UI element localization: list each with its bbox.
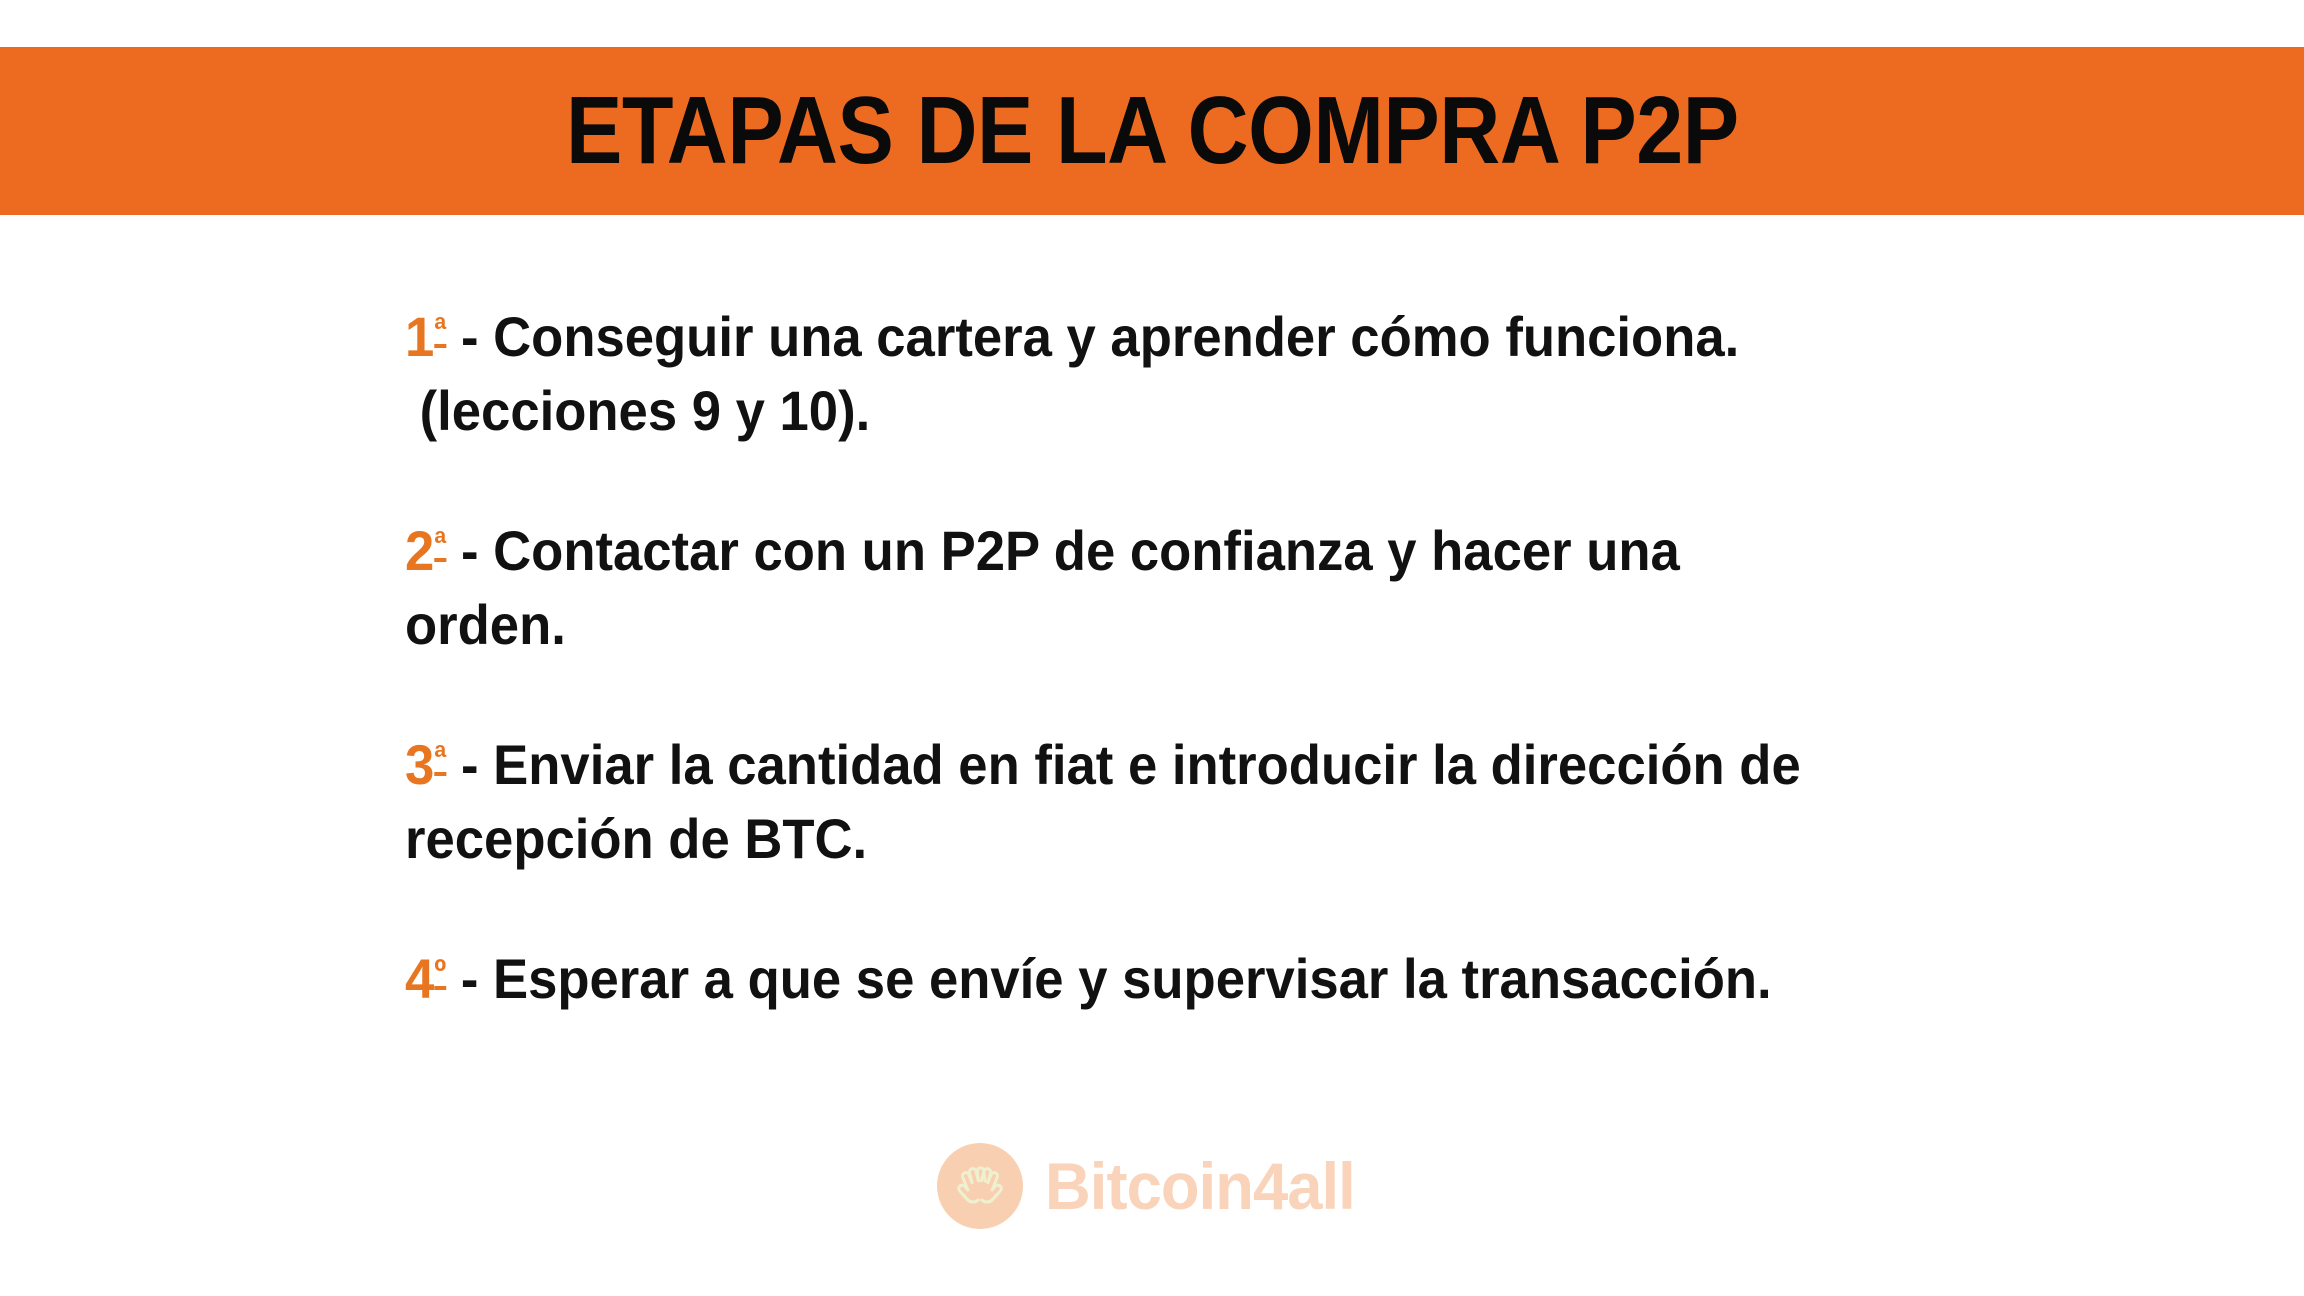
step-item: 4º - Esperar a que se envíe y supervisar… xyxy=(405,942,2055,1016)
step-ordinal-number: 1 xyxy=(405,305,434,368)
step-ordinal-suffix: ª xyxy=(434,311,446,349)
step-text: (lecciones 9 y 10). xyxy=(405,379,870,442)
step-line: 4º - Esperar a que se envíe y supervisar… xyxy=(405,942,1956,1016)
step-line: recepción de BTC. xyxy=(405,802,1956,876)
step-text: orden. xyxy=(405,593,566,656)
step-ordinal-suffix: ª xyxy=(434,739,446,777)
step-line: orden. xyxy=(405,588,1956,662)
step-line: 1ª - Conseguir una cartera y aprender có… xyxy=(405,300,1956,374)
step-line: 3ª - Enviar la cantidad en fiat e introd… xyxy=(405,728,1956,802)
step-ordinal-number: 4 xyxy=(405,947,434,1010)
step-ordinal-suffix: ª xyxy=(434,525,446,563)
step-line: (lecciones 9 y 10). xyxy=(405,374,1956,448)
title-banner: ETAPAS DE LA COMPRA P2P xyxy=(0,47,2304,215)
step-line: 2ª - Contactar con un P2P de confianza y… xyxy=(405,514,1956,588)
steps-list: 1ª - Conseguir una cartera y aprender có… xyxy=(405,300,2055,1016)
page-title: ETAPAS DE LA COMPRA P2P xyxy=(566,83,1739,179)
step-text: - Conseguir una cartera y aprender cómo … xyxy=(446,305,1739,368)
two-open-hands-icon xyxy=(937,1143,1023,1229)
step-item: 2ª - Contactar con un P2P de confianza y… xyxy=(405,514,2055,662)
step-ordinal-number: 2 xyxy=(405,519,434,582)
step-ordinal: 2ª xyxy=(405,519,446,582)
step-text: - Enviar la cantidad en fiat e introduci… xyxy=(446,733,1800,796)
slide-canvas: ETAPAS DE LA COMPRA P2P 1ª - Conseguir u… xyxy=(0,0,2304,1296)
step-item: 3ª - Enviar la cantidad en fiat e introd… xyxy=(405,728,2055,876)
step-text: - Contactar con un P2P de confianza y ha… xyxy=(446,519,1679,582)
step-text: recepción de BTC. xyxy=(405,807,867,870)
step-text: - Esperar a que se envíe y supervisar la… xyxy=(446,947,1771,1010)
step-ordinal-number: 3 xyxy=(405,733,434,796)
brand-logo-text: Bitcoin4all xyxy=(1045,1153,1355,1219)
step-ordinal: 1ª xyxy=(405,305,446,368)
brand-logo: Bitcoin4all xyxy=(0,1143,2304,1229)
step-item: 1ª - Conseguir una cartera y aprender có… xyxy=(405,300,2055,448)
step-ordinal: 3ª xyxy=(405,733,446,796)
step-ordinal-suffix: º xyxy=(434,953,446,991)
step-ordinal: 4º xyxy=(405,947,446,1010)
